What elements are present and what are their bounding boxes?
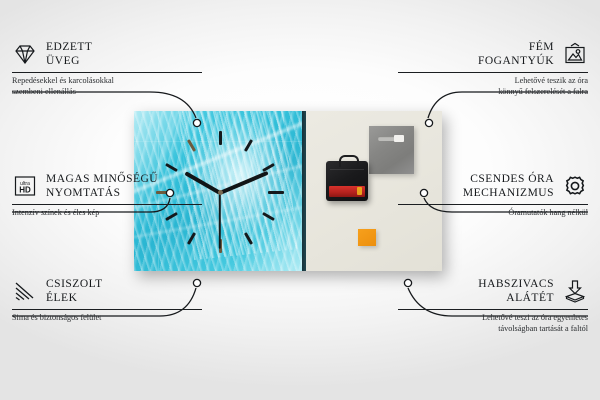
- callout-divider: [398, 72, 588, 73]
- callout-divider: [398, 204, 588, 205]
- gear-icon: [562, 174, 588, 198]
- callout-desc-line1: Sima és biztonságos felület: [12, 313, 101, 322]
- callout-metal-handles[interactable]: FÉM FOGANTYÚK Lehetővé teszik az óra kön…: [398, 40, 588, 97]
- callout-header: CSISZOLT ÉLEK: [12, 277, 202, 305]
- clock-tick: [244, 232, 253, 245]
- callout-high-quality-print[interactable]: ultra HD MAGAS MINŐSÉGŰ NYOMTATÁS Intenz…: [12, 172, 202, 219]
- callout-desc-line1: Lehetővé teszi az óra egyenletes: [482, 313, 588, 322]
- clock-minute-hand: [219, 171, 268, 195]
- callout-description: Óramutatók hang nélkül: [398, 208, 588, 219]
- clock-mechanism: [326, 161, 368, 201]
- callout-description: Repedésekkel és karcolásokkal szembeni e…: [12, 76, 202, 97]
- callout-title-line2: NYOMTATÁS: [46, 187, 121, 199]
- polished-edge-icon: [12, 279, 38, 303]
- callout-divider: [12, 72, 202, 73]
- callout-desc-line1: Óramutatók hang nélkül: [508, 208, 588, 217]
- callout-description: Lehetővé teszik az óra könnyű felszerelé…: [398, 76, 588, 97]
- callout-polished-edges[interactable]: CSISZOLT ÉLEK Sima és biztonságos felüle…: [12, 277, 202, 324]
- callout-title-line1: CSISZOLT: [46, 278, 103, 290]
- callout-desc-line2: távolságban tartását a faltól: [498, 324, 588, 333]
- callout-title-line1: MAGAS MINŐSÉGŰ: [46, 173, 158, 185]
- clock-tick: [262, 163, 275, 172]
- mechanism-seam: [330, 169, 364, 170]
- callout-description: Lehetővé teszi az óra egyenletes távolsá…: [398, 313, 588, 334]
- callout-desc-line1: Lehetővé teszik az óra: [515, 76, 588, 85]
- callout-title: EDZETT ÜVEG: [46, 40, 92, 68]
- clock-second-hand: [219, 193, 221, 249]
- metal-hanger-bracket: [369, 126, 414, 174]
- callout-title-line1: CSENDES ÓRA: [470, 173, 554, 185]
- callout-divider: [12, 204, 202, 205]
- infographic-stage: EDZETT ÜVEG Repedésekkel és karcolásokka…: [0, 0, 600, 400]
- callout-header: CSENDES ÓRA MECHANIZMUS: [398, 172, 588, 200]
- hanger-slot: [378, 136, 404, 141]
- callout-title: CSENDES ÓRA MECHANIZMUS: [463, 172, 554, 200]
- svg-text:HD: HD: [19, 186, 31, 195]
- callout-silent-mechanism[interactable]: CSENDES ÓRA MECHANIZMUS Óramutatók hang …: [398, 172, 588, 219]
- callout-title: CSISZOLT ÉLEK: [46, 277, 103, 305]
- picture-hanger-icon: [562, 42, 588, 66]
- ultra-hd-icon: ultra HD: [12, 174, 38, 198]
- callout-title-line1: EDZETT: [46, 41, 92, 53]
- clock-tick: [262, 212, 275, 221]
- callout-desc-line2: könnyű felszerelését a falra: [498, 87, 588, 96]
- clock-tick: [268, 191, 284, 194]
- callout-header: FÉM FOGANTYÚK: [398, 40, 588, 68]
- clock-tick: [219, 131, 222, 145]
- callout-desc-line2: szembeni ellenállás: [12, 87, 76, 96]
- callout-title-line2: ÉLEK: [46, 292, 77, 304]
- callout-description: Sima és biztonságos felület: [12, 313, 202, 324]
- callout-header: HABSZIVACS ALÁTÉT: [398, 277, 588, 305]
- diamond-icon: [12, 42, 38, 66]
- battery: [329, 186, 365, 197]
- callout-desc-line1: Intenzív színek és éles kép: [12, 208, 99, 217]
- clock-tick: [244, 139, 253, 152]
- clock-tick: [165, 163, 178, 172]
- callout-title-line2: ÜVEG: [46, 55, 80, 67]
- callout-header: ultra HD MAGAS MINŐSÉGŰ NYOMTATÁS: [12, 172, 202, 200]
- callout-divider: [398, 309, 588, 310]
- callout-tempered-glass[interactable]: EDZETT ÜVEG Repedésekkel és karcolásokka…: [12, 40, 202, 97]
- callout-header: EDZETT ÜVEG: [12, 40, 202, 68]
- callout-desc-line1: Repedésekkel és karcolásokkal: [12, 76, 114, 85]
- clock-center-cap: [218, 190, 223, 195]
- clock-tick: [187, 232, 196, 245]
- callout-title-line2: MECHANIZMUS: [463, 187, 554, 199]
- callout-foam-pad[interactable]: HABSZIVACS ALÁTÉT Lehetővé teszi az óra …: [398, 277, 588, 334]
- callout-title-line2: ALÁTÉT: [506, 292, 554, 304]
- callout-title: HABSZIVACS ALÁTÉT: [478, 277, 554, 305]
- clock-tick: [187, 139, 196, 152]
- foam-pad: [358, 229, 376, 246]
- callout-title: FÉM FOGANTYÚK: [478, 40, 554, 68]
- callout-title: MAGAS MINŐSÉGŰ NYOMTATÁS: [46, 172, 158, 200]
- callout-description: Intenzív színek és éles kép: [12, 208, 202, 219]
- mechanism-hook: [339, 155, 359, 167]
- callout-divider: [12, 309, 202, 310]
- callout-title-line1: HABSZIVACS: [478, 278, 554, 290]
- callout-title-line1: FÉM: [529, 41, 554, 53]
- callout-title-line2: FOGANTYÚK: [478, 55, 554, 67]
- foam-pad-icon: [562, 279, 588, 303]
